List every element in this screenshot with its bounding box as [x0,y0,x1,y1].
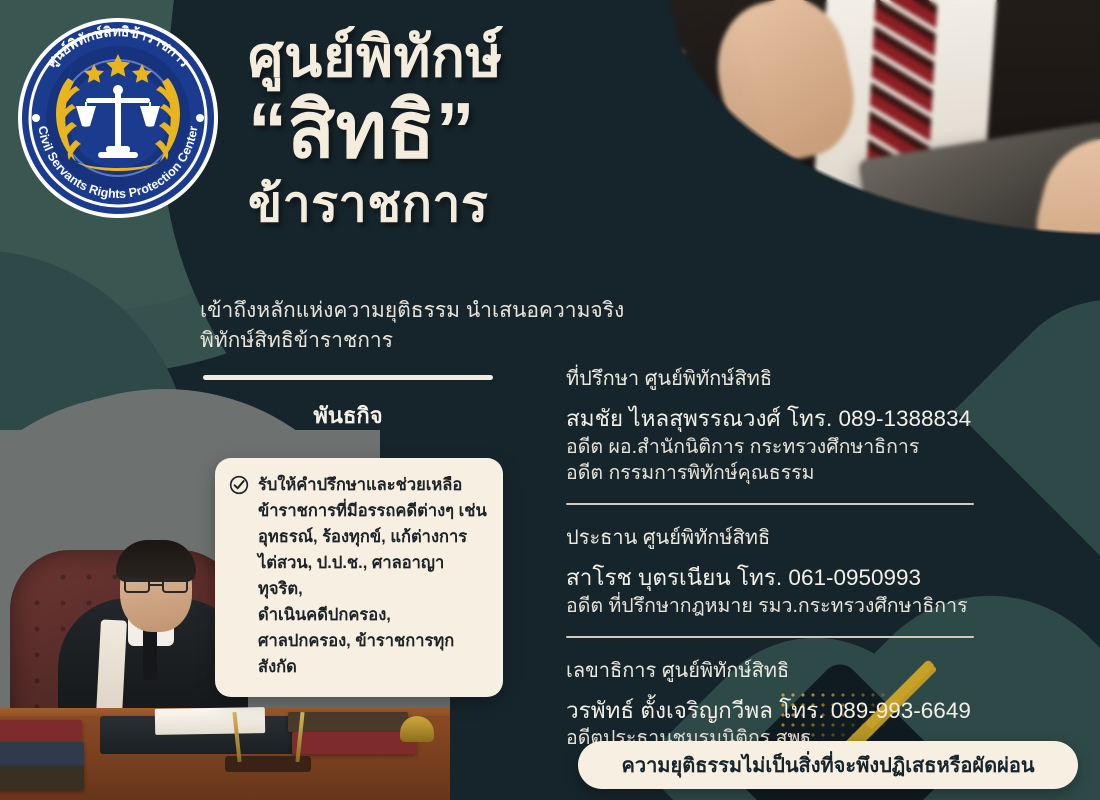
contact-role: เลขาธิการ ศูนย์พิทักษ์สิทธิ [566,654,986,686]
contact-subtitle-2: อดีต กรรมการพิทักษ์คุณธรรม [566,460,986,486]
contact-block-advisor: ที่ปรึกษา ศูนย์พิทักษ์สิทธิ สมชัย ไหลสุพ… [566,362,986,486]
contact-name-phone[interactable]: วรพัทธ์ ตั้งเจริญกวีพล โทร. 089-993-6649 [566,696,986,726]
judge-eyeglasses [124,578,188,593]
judge-hair [116,540,196,582]
contact-divider [566,503,974,505]
contact-divider [566,636,974,638]
contacts-group: ที่ปรึกษา ศูนย์พิทักษ์สิทธิ สมชัย ไหลสุพ… [566,362,986,756]
headline-line-2: “สิทธิ” [248,91,588,171]
judge-open-document [155,707,265,735]
footer-slogan-banner: ความยุติธรรมไม่เป็นสิ่งที่จะพึงปฏิเสธหรื… [578,741,1078,789]
contact-role: ประธาน ศูนย์พิทักษ์สิทธิ [566,521,986,553]
judge-brass-lamp [400,716,434,742]
check-circle-icon [229,475,249,500]
headline-line-1: ศูนย์พิทักษ์ [248,28,588,85]
law-book [0,742,84,766]
mission-card: รับให้คำปรึกษาและช่วยเหลือ ข้าราชการที่ม… [215,458,503,697]
footer-slogan-text: ความยุติธรรมไม่เป็นสิ่งที่จะพึงปฏิเสธหรื… [621,749,1034,781]
mission-text: รับให้คำปรึกษาและช่วยเหลือ ข้าราชการที่ม… [258,472,487,681]
mission-line: ศาลปกครอง, ข้าราชการทุกสังกัด [258,628,487,680]
contact-subtitle-1: อดีต ผอ.สำนักนิติการ กระทรวงศึกษาธิการ [566,434,986,460]
subtitle-line-2: พิทักษ์สิทธิข้าราชการ [200,326,630,356]
poster-canvas: ศูนย์พิทักษ์สิทธิข้าราชการ Civil Servant… [0,0,1100,800]
organization-logo: ศูนย์พิทักษ์สิทธิข้าราชการ Civil Servant… [14,14,222,222]
mission-heading: พันธกิจ [203,398,493,433]
mission-line: ดำเนินคดีปกครอง, [258,602,487,628]
law-book [288,712,408,732]
headline-line-3: ข้าราชการ [248,179,588,230]
contact-block-president: ประธาน ศูนย์พิทักษ์สิทธิ สาโรช บุตรเนียน… [566,521,986,619]
mission-line: รับให้คำปรึกษาและช่วยเหลือ [258,472,487,498]
mission-divider [203,375,493,380]
contact-name-phone[interactable]: สมชัย ไหลสุพรรณวงศ์ โทร. 089-1388834 [566,404,986,434]
contact-role: ที่ปรึกษา ศูนย์พิทักษ์สิทธิ [566,362,986,394]
law-book [0,766,84,790]
contact-name-phone[interactable]: สาโรช บุตรเนียน โทร. 061-0950993 [566,563,986,593]
headline-group: ศูนย์พิทักษ์ “สิทธิ” ข้าราชการ [248,28,588,230]
mission-line: ข้าราชการที่มีอรรถคดีต่างๆ เช่น [258,498,487,524]
law-book [292,732,416,754]
contact-block-secretary: เลขาธิการ ศูนย์พิทักษ์สิทธิ วรพัทธ์ ตั้ง… [566,654,986,752]
contact-subtitle-1: อดีต ที่ปรึกษากฎหมาย รมว.กระทรวงศึกษาธิก… [566,593,986,619]
mission-line: ไต่สวน, ป.ป.ช., ศาลอาญาทุจริต, [258,550,487,602]
mission-line: อุทธรณ์, ร้องทุกข์, แก้ต่างการ [258,524,487,550]
law-book [0,720,82,742]
subtitle-group: เข้าถึงหลักแห่งความยุติธรรม นำเสนอความจร… [200,296,630,357]
subtitle-line-1: เข้าถึงหลักแห่งความยุติธรรม นำเสนอความจร… [200,296,630,326]
